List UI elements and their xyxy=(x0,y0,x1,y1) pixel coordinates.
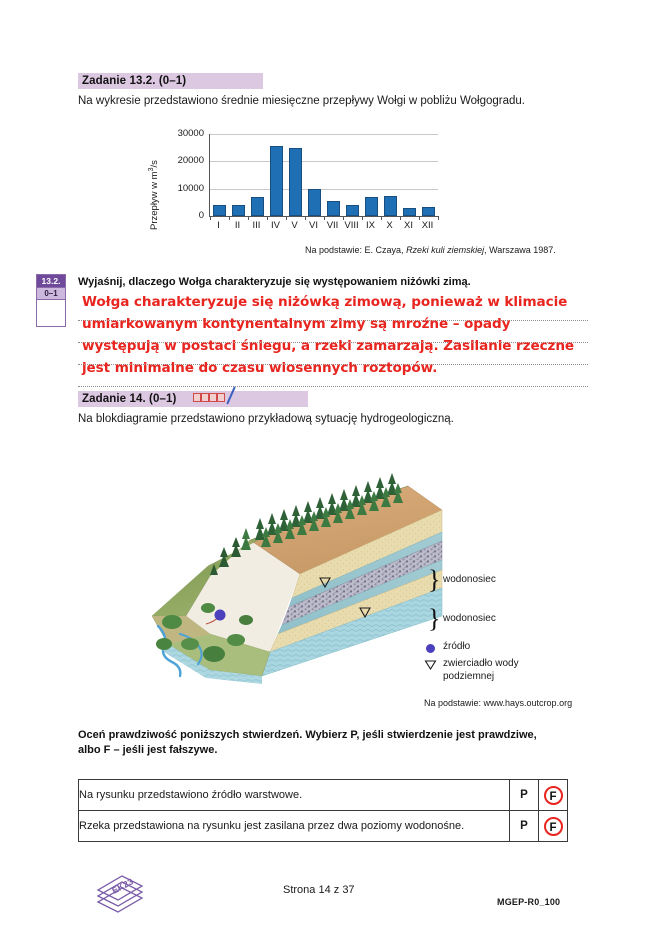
statement-text-1: Na rysunku przedstawiono źródło warstwow… xyxy=(79,780,510,811)
chart-xlabel-IX: IX xyxy=(361,220,380,231)
chart-gridline-20000 xyxy=(210,161,438,162)
chart-plot-area xyxy=(209,134,438,217)
task-13-header-band: Zadanie 13.2. (0–1) xyxy=(78,73,263,89)
table-row: Rzeka przedstawiona na rysunku jest zasi… xyxy=(79,811,568,842)
aquifer-label-1: wodonosiec xyxy=(443,574,496,585)
marker-box-4[interactable] xyxy=(217,393,225,402)
task-13-question-text: Wyjaśnij, dlaczego Wołga charakteryzuje … xyxy=(78,276,598,288)
task-13-header-label: Zadanie 13.2. (0–1) xyxy=(78,73,190,89)
legend-spring-label: źródło xyxy=(443,641,470,652)
chart-ytick-30000: 30000 xyxy=(158,128,204,139)
answer-ruled-line-4 xyxy=(78,386,588,387)
true-false-answer-table: Na rysunku przedstawiono źródło warstwow… xyxy=(78,779,568,842)
chart-ytick-0: 0 xyxy=(158,210,204,221)
exam-code-label: MGEP-R0_100 xyxy=(497,897,560,907)
chart-bar-I xyxy=(213,205,226,216)
task-14-marker-boxes[interactable] xyxy=(193,393,225,402)
selected-answer-circle-2[interactable]: F xyxy=(544,817,563,836)
legend-water-table-icon xyxy=(424,659,437,671)
chart-xlabel-XII: XII xyxy=(418,220,437,231)
chart-bar-VIII xyxy=(346,205,359,216)
table-row: Na rysunku przedstawiono źródło warstwow… xyxy=(79,780,568,811)
legend-water-table-label-line1: zwierciadło wody xyxy=(443,658,519,669)
chart-source-suffix: , Warszawa 1987. xyxy=(484,245,556,255)
chart-source-attribution: Na podstawie: E. Czaya, Rzeki kuli ziems… xyxy=(305,245,556,255)
answer-option-p-1[interactable]: P xyxy=(510,780,539,811)
legend-water-table-label-line2: podziemnej xyxy=(443,671,494,682)
chart-xtick-12 xyxy=(438,216,439,220)
chart-source-title: Rzeki kuli ziemskiej xyxy=(406,245,484,255)
chart-gridline-10000 xyxy=(210,189,438,190)
task-13-intro-text: Na wykresie przedstawiono średnie miesię… xyxy=(78,95,598,107)
hydrogeology-block-diagram xyxy=(150,448,450,688)
chart-bar-II xyxy=(232,205,245,217)
answer-option-f-1[interactable]: F xyxy=(539,780,568,811)
statement-text-2: Rzeka przedstawiona na rysunku jest zasi… xyxy=(79,811,510,842)
handwritten-answer-line-4: jest minimalne do czasu wiosennych rozto… xyxy=(82,360,437,376)
score-box-13-2[interactable]: 13.2. 0–1 xyxy=(36,274,66,327)
score-box-awarded[interactable] xyxy=(37,300,65,326)
diagram-spring-dot xyxy=(215,610,226,621)
task-14-instruction-line-2: albo F – jeśli jest fałszywe. xyxy=(78,744,608,756)
chart-bar-X xyxy=(384,196,397,217)
chart-ytick-20000: 20000 xyxy=(158,155,204,166)
chart-bar-III xyxy=(251,197,264,216)
aquifer-brace-2: } xyxy=(428,606,440,632)
handwritten-answer-line-2: umiarkowanym kontynentalnym zimy są mroź… xyxy=(82,316,510,332)
chart-xlabel-IV: IV xyxy=(266,220,285,231)
score-box-range: 0–1 xyxy=(37,288,65,300)
chart-xlabel-V: V xyxy=(285,220,304,231)
chart-xlabel-X: X xyxy=(380,220,399,231)
chart-xlabel-XI: XI xyxy=(399,220,418,231)
marker-box-3[interactable] xyxy=(209,393,217,402)
task-14-instruction-line-1: Oceń prawdziwość poniższych stwierdzeń. … xyxy=(78,729,608,741)
chart-bar-V xyxy=(289,148,302,216)
legend-spring-dot-icon xyxy=(426,644,435,653)
chart-bar-VII xyxy=(327,201,340,216)
chart-xlabel-VI: VI xyxy=(304,220,323,231)
marker-box-2[interactable] xyxy=(201,393,209,402)
flow-chart: Przepływ w m3/s 30000 20000 10000 0 xyxy=(138,122,448,237)
chart-gridline-30000 xyxy=(210,134,438,135)
chart-xlabel-III: III xyxy=(247,220,266,231)
page-number-label: Strona 14 z 37 xyxy=(283,884,355,896)
chart-bar-XII xyxy=(422,207,435,216)
chart-bar-IX xyxy=(365,197,378,216)
chart-source-prefix: Na podstawie: E. Czaya, xyxy=(305,245,406,255)
handwritten-answer-line-3: występują w postaci śniegu, a rzeki zama… xyxy=(82,338,574,354)
chart-xlabel-I: I xyxy=(209,220,228,231)
aquifer-brace-1: } xyxy=(428,567,440,593)
chart-bar-XI xyxy=(403,208,416,216)
chart-xlabel-II: II xyxy=(228,220,247,231)
chart-xlabel-VII: VII xyxy=(323,220,342,231)
task-14-header-label: Zadanie 14. (0–1) xyxy=(78,391,180,407)
chart-bar-IV xyxy=(270,146,283,217)
handwritten-answer-line-1: Wołga charakteryzuje się niżówką zimową,… xyxy=(82,294,567,310)
answer-option-p-2[interactable]: P xyxy=(510,811,539,842)
chart-xlabel-VIII: VIII xyxy=(342,220,361,231)
chart-ytick-10000: 10000 xyxy=(158,183,204,194)
aquifer-label-2: wodonosiec xyxy=(443,613,496,624)
answer-option-f-2[interactable]: F xyxy=(539,811,568,842)
diagram-source-attribution: Na podstawie: www.hays.outcrop.org xyxy=(424,698,572,708)
exam-stack-logo-icon: EK23 xyxy=(92,872,148,916)
marker-box-1[interactable] xyxy=(193,393,201,402)
selected-answer-circle-1[interactable]: F xyxy=(544,786,563,805)
chart-bar-VI xyxy=(308,189,321,216)
score-box-task-number: 13.2. xyxy=(37,275,65,288)
task-14-intro-text: Na blokdiagramie przedstawiono przykłado… xyxy=(78,413,598,425)
